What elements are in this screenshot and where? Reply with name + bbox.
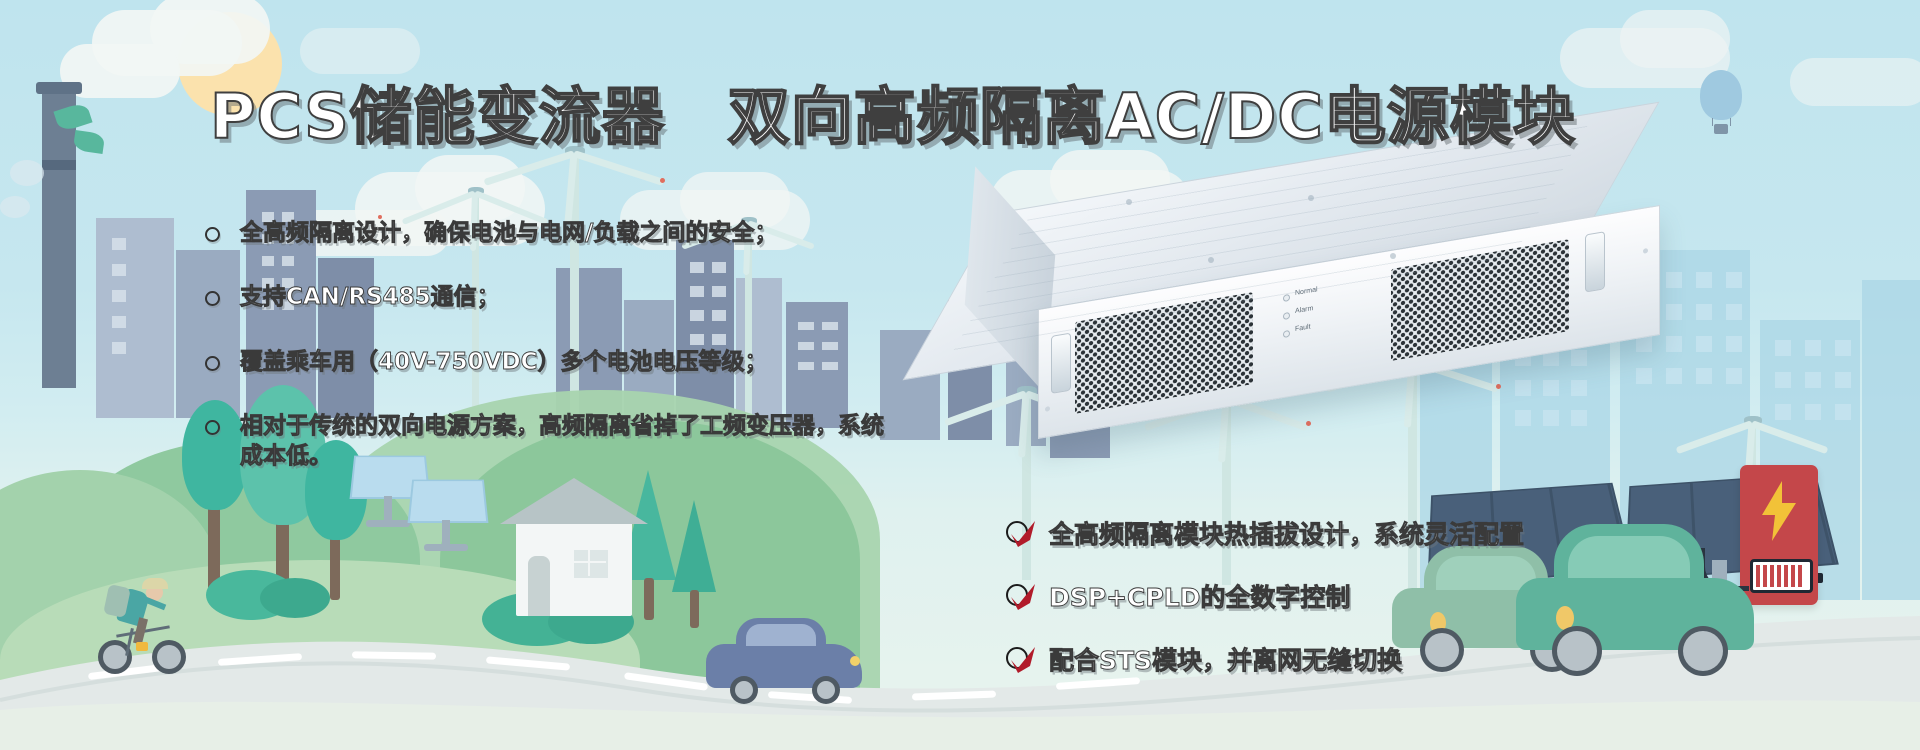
cloud-shape — [1790, 58, 1920, 106]
device-top-screw — [1308, 195, 1314, 201]
feature-text: 全高频隔离设计，确保电池与电网/负载之间的安全； — [240, 218, 777, 248]
smoke-puff — [0, 196, 30, 218]
list-item: 覆盖乘车用（40V-750VDC）多个电池电压等级； — [205, 347, 925, 377]
lightning-bolt-icon — [1760, 481, 1798, 541]
product-banner: Normal Alarm Fault — [0, 0, 1920, 750]
benefit-list: 全高频隔离模块热插拔设计，系统灵活配置 DSP+CPLD的全数字控制 配合STS… — [1005, 515, 1524, 704]
check-circle-icon — [1005, 644, 1035, 674]
bullet-circle-icon — [205, 420, 220, 435]
hot-air-balloon-rope — [1712, 118, 1713, 126]
led-label-fault: Fault — [1295, 323, 1311, 333]
building-window — [112, 238, 126, 250]
wind-turbine-tip-light — [660, 178, 665, 183]
city-building — [96, 218, 174, 418]
solar-panel-base — [366, 520, 410, 527]
cyclist-shoe — [136, 642, 148, 651]
hot-air-balloon-basket — [1714, 124, 1728, 134]
page-title: PCS储能变流器 双向高频隔离AC/DC电源模块 — [210, 66, 1576, 156]
list-item: 配合STS模块，并离网无缝切换 — [1005, 641, 1524, 677]
foreground-ground — [0, 690, 1920, 750]
pcs-power-module: Normal Alarm Fault — [950, 165, 1740, 435]
car-window — [746, 624, 816, 646]
check-circle-icon — [1005, 581, 1035, 611]
battery-indicator — [1750, 559, 1813, 593]
bicycle-wheel — [152, 640, 186, 674]
list-item: 相对于传统的双向电源方案，高频隔离省掉了工频变压器，系统成本低。 — [205, 411, 895, 472]
bullet-circle-icon — [205, 356, 220, 371]
list-item: DSP+CPLD的全数字控制 — [1005, 578, 1524, 614]
benefit-text: DSP+CPLD的全数字控制 — [1049, 578, 1350, 614]
bullet-circle-icon — [205, 291, 220, 306]
check-circle-icon — [1005, 518, 1035, 548]
solar-panel-base — [424, 544, 468, 551]
hot-air-balloon-rope — [1730, 118, 1731, 126]
list-item: 全高频隔离设计，确保电池与电网/负载之间的安全； — [205, 218, 925, 248]
bullet-circle-icon — [205, 227, 220, 242]
smokestack-cap — [36, 82, 82, 94]
feature-text: 相对于传统的双向电源方案，高频隔离省掉了工频变压器，系统成本低。 — [240, 411, 895, 472]
car-headlight — [850, 656, 860, 666]
list-item: 支持CAN/RS485通信； — [205, 282, 925, 312]
led-indicator-alarm — [1283, 312, 1290, 320]
device-top-screw — [1208, 257, 1214, 263]
smokestack — [42, 88, 76, 388]
list-item: 全高频隔离模块热插拔设计，系统灵活配置 — [1005, 515, 1524, 551]
device-handle[interactable] — [1051, 333, 1071, 394]
device-top-screw — [1126, 199, 1132, 205]
benefit-text: 配合STS模块，并离网无缝切换 — [1049, 641, 1402, 677]
feature-text: 支持CAN/RS485通信； — [240, 282, 500, 312]
device-top-screw — [1390, 253, 1396, 259]
device-screw — [1643, 248, 1648, 254]
road-marking — [352, 651, 436, 659]
car-window — [1568, 536, 1690, 578]
charger-connector — [1818, 573, 1823, 583]
feature-text: 覆盖乘车用（40V-750VDC）多个电池电压等级； — [240, 347, 767, 377]
hot-air-balloon-icon — [1700, 70, 1742, 120]
car-wheel — [1552, 626, 1602, 676]
benefit-text: 全高频隔离模块热插拔设计，系统灵活配置 — [1049, 515, 1524, 551]
ev-charging-station[interactable] — [1740, 465, 1818, 605]
led-label-alarm: Alarm — [1295, 305, 1313, 315]
leaf-icon — [73, 130, 105, 154]
led-indicator-fault — [1283, 330, 1290, 338]
car-wheel — [1678, 626, 1728, 676]
cloud-shape — [1620, 10, 1730, 68]
device-screw — [1045, 406, 1050, 412]
cyclist-helmet — [142, 578, 168, 589]
background-building — [1862, 280, 1920, 600]
device-handle[interactable] — [1585, 231, 1605, 292]
smoke-puff — [10, 160, 44, 186]
background-window — [1775, 340, 1791, 356]
smokestack-band — [42, 160, 76, 170]
feature-list: 全高频隔离设计，确保电池与电网/负载之间的安全； 支持CAN/RS485通信； … — [205, 218, 925, 506]
